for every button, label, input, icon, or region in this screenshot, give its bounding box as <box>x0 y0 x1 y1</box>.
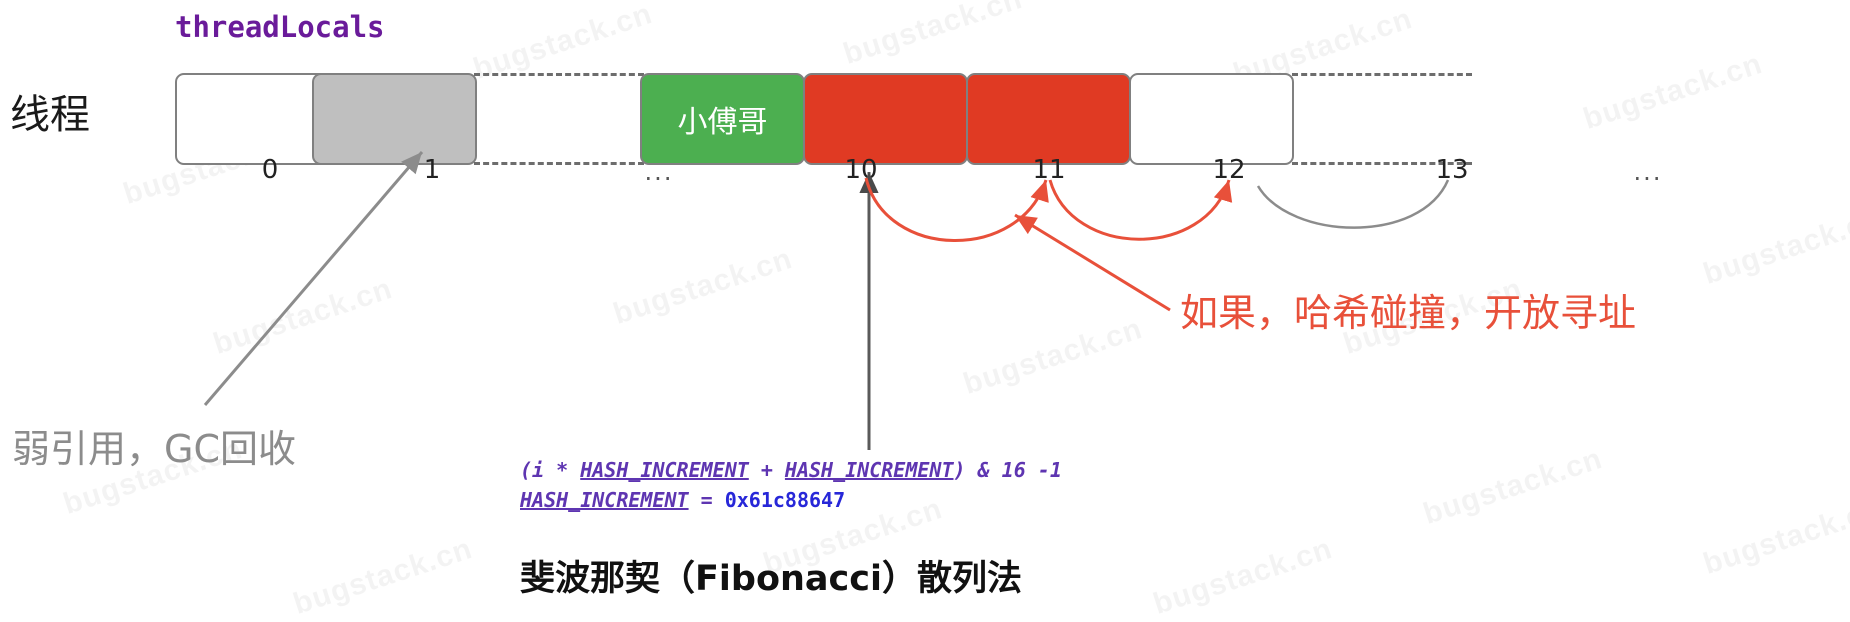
index-label-10: 10 <box>844 155 877 185</box>
index-label-1: 1 <box>424 155 441 185</box>
probe-arc-11-to-12 <box>1050 180 1229 239</box>
index-label-gap-right: ... <box>1634 158 1663 186</box>
table-cell-gap-right <box>1292 73 1472 165</box>
formula-line1-c: + <box>749 458 785 482</box>
threadlocals-label: threadLocals <box>175 10 385 44</box>
formula-line2-a: HASH_INCREMENT <box>520 488 689 512</box>
cell-label: 小傅哥 <box>678 97 768 141</box>
formula-line-2: HASH_INCREMENT = 0x61c88647 <box>520 485 1062 515</box>
watermark-text: bugstack.cn <box>1699 202 1850 291</box>
watermark-text: bugstack.cn <box>1579 47 1766 136</box>
index-label-12: 12 <box>1212 155 1245 185</box>
formula-line-1: (i * HASH_INCREMENT + HASH_INCREMENT) & … <box>520 455 1062 485</box>
formula-line1-e: ) & 16 -1 <box>954 458 1062 482</box>
watermark-text: bugstack.cn <box>1699 492 1850 581</box>
index-label-13: 13 <box>1435 155 1468 185</box>
index-label-gap-left: ... <box>645 158 674 186</box>
formula-line1-d: HASH_INCREMENT <box>785 458 954 482</box>
watermark-text: bugstack.cn <box>209 272 396 361</box>
watermark-text: bugstack.cn <box>609 242 796 331</box>
formula-line1-a: (i * <box>520 458 580 482</box>
hash-formula: (i * HASH_INCREMENT + HASH_INCREMENT) & … <box>520 455 1062 515</box>
watermark-text: bugstack.cn <box>839 0 1026 71</box>
formula-hash-increment-value: 0x61c88647 <box>725 488 845 512</box>
probe-arc-13 <box>1258 180 1448 228</box>
table-cell-12[interactable] <box>966 73 1131 165</box>
formula-line1-b: HASH_INCREMENT <box>580 458 749 482</box>
collision-annotation: 如果，哈希碰撞，开放寻址 <box>1180 288 1720 338</box>
table-cell-gap-left <box>474 73 644 165</box>
page-title: 斐波那契（Fibonacci）散列法 <box>520 550 1022 601</box>
table-cell-13[interactable] <box>1129 73 1294 165</box>
watermark-text: bugstack.cn <box>1419 442 1606 531</box>
formula-line2-b: = <box>689 488 725 512</box>
diagram-canvas: bugstack.cn bugstack.cn bugstack.cn bugs… <box>0 0 1850 600</box>
table-cell-1[interactable] <box>312 73 477 165</box>
weak-reference-annotation: 弱引用，GC回收 <box>12 418 296 473</box>
watermark-text: bugstack.cn <box>1149 532 1336 621</box>
watermark-text: bugstack.cn <box>959 312 1146 401</box>
collision-callout-arrow <box>1015 215 1170 310</box>
probe-arc-10-to-11 <box>866 178 1046 241</box>
weak-reference-arrow <box>205 152 422 405</box>
watermark-text: bugstack.cn <box>289 532 476 621</box>
index-label-0: 0 <box>262 155 279 185</box>
index-label-11: 11 <box>1032 155 1065 185</box>
table-cell-10[interactable]: 小傅哥 <box>640 73 805 165</box>
table-cell-11[interactable] <box>803 73 968 165</box>
thread-label: 线程 <box>10 82 90 140</box>
